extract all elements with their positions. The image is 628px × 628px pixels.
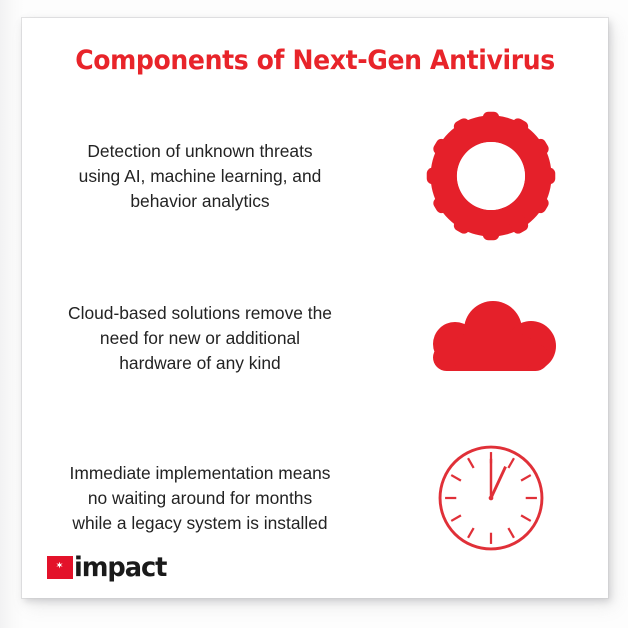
component-text-3: Immediate implementation means no waitin… <box>22 461 374 536</box>
component-text-line: no waiting around for months <box>26 486 374 511</box>
component-row-3: Immediate implementation means no waitin… <box>22 428 608 568</box>
clock-center-dot <box>489 496 494 501</box>
component-text-line: behavior analytics <box>26 189 374 214</box>
component-icon-slot-2 <box>374 268 608 408</box>
gear-icon <box>428 113 554 239</box>
infographic-root: Components of Next-Gen Antivirus Detecti… <box>0 0 628 628</box>
component-text-line: Detection of unknown threats <box>26 139 374 164</box>
component-text-1: Detection of unknown threats using AI, m… <box>22 139 374 214</box>
page-title: Components of Next-Gen Antivirus <box>43 45 588 76</box>
component-text-line: Cloud-based solutions remove the <box>26 301 374 326</box>
red-square-starburst-icon <box>47 556 73 579</box>
component-text-line: hardware of any kind <box>26 351 374 376</box>
component-icon-slot-3 <box>374 428 608 568</box>
component-text-line: Immediate implementation means <box>26 461 374 486</box>
component-row-2: Cloud-based solutions remove the need fo… <box>22 268 608 408</box>
cloud-icon <box>421 300 561 376</box>
component-row-1: Detection of unknown threats using AI, m… <box>22 106 608 246</box>
component-text-2: Cloud-based solutions remove the need fo… <box>22 301 374 376</box>
clock-icon <box>435 442 547 554</box>
impact-logo[interactable]: impact <box>47 552 171 582</box>
infographic-card: Components of Next-Gen Antivirus Detecti… <box>22 18 608 598</box>
component-text-line: need for new or additional <box>26 326 374 351</box>
component-text-line: using AI, machine learning, and <box>26 164 374 189</box>
component-text-line: while a legacy system is installed <box>26 511 374 536</box>
clock-hour-hand <box>491 467 506 498</box>
logo-wordmark: impact <box>74 554 166 581</box>
component-icon-slot-1 <box>374 106 608 246</box>
